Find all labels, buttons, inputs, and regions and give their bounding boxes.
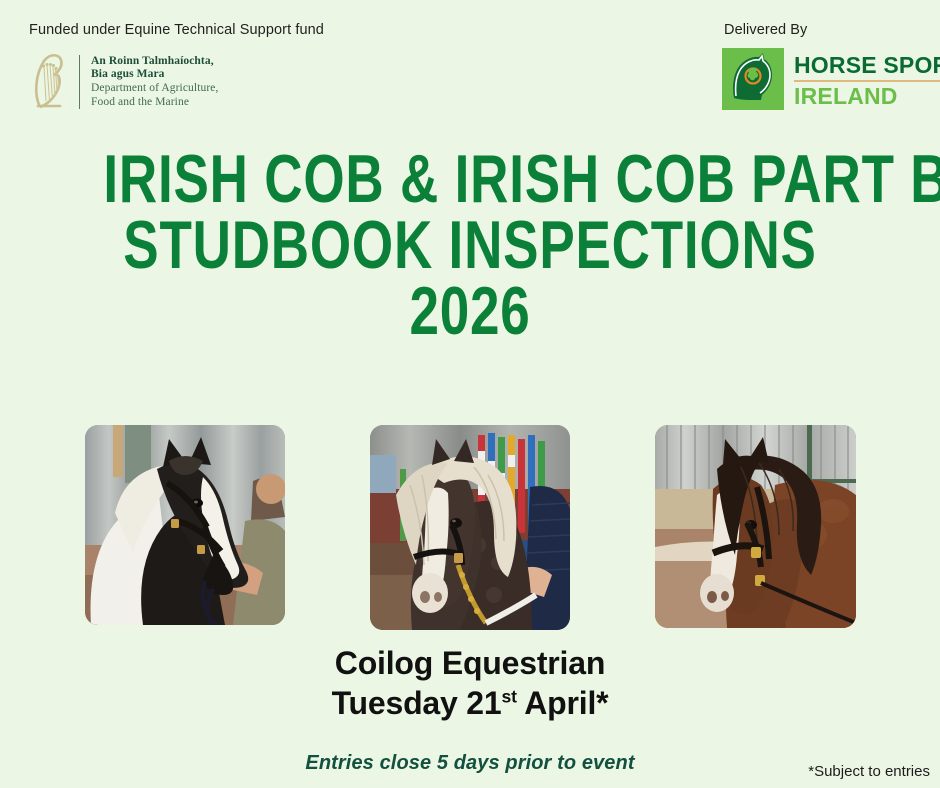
venue-date-ordinal: st	[502, 686, 517, 706]
department-irish-line-2: Bia agus Mara	[91, 68, 218, 82]
brand-wordmark: HORSE SPORT IRELAND	[794, 48, 940, 110]
headline-line-3: 2026	[103, 282, 836, 342]
brand-rule	[794, 80, 940, 82]
horse-head-icon	[722, 48, 784, 110]
funding-line: Funded under Equine Technical Support fu…	[29, 22, 429, 38]
department-logo: An Roinn Talmhaíochta, Bia agus Mara Dep…	[29, 51, 429, 113]
delivered-by-line: Delivered By	[724, 22, 932, 38]
piebald-cob-photo	[85, 425, 285, 625]
subject-to-entries-note: *Subject to entries	[808, 763, 930, 780]
brand-top-text: HORSE SPORT	[794, 54, 940, 77]
venue-name: Coilog Equestrian	[0, 645, 940, 683]
entries-close-note: Entries close 5 days prior to event	[0, 752, 940, 775]
bay-cob-photo	[655, 425, 856, 628]
headline-line-2: STUDBOOK INSPECTIONS	[103, 216, 836, 276]
headline-line-1: IRISH COB & IRISH COB PART BRED	[103, 150, 836, 210]
funder-block: Funded under Equine Technical Support fu…	[29, 22, 429, 113]
department-name: An Roinn Talmhaíochta, Bia agus Mara Dep…	[91, 55, 218, 109]
brand-bottom-text: IRELAND	[794, 85, 940, 108]
photo-gallery	[0, 425, 940, 630]
venue-date-month: April*	[517, 685, 609, 721]
venue-block: Coilog Equestrian Tuesday 21st April*	[0, 645, 940, 723]
venue-date-day: Tuesday 21	[332, 685, 502, 721]
logo-divider	[79, 55, 80, 109]
department-english-line-2: Food and the Marine	[91, 96, 218, 110]
poster-canvas: Funded under Equine Technical Support fu…	[0, 0, 940, 788]
department-irish-line-1: An Roinn Talmhaíochta,	[91, 55, 218, 69]
venue-date: Tuesday 21st April*	[0, 685, 940, 723]
horse-sport-ireland-logo: HORSE SPORT IRELAND	[722, 48, 932, 110]
irish-harp-icon	[29, 51, 71, 113]
page-title: IRISH COB & IRISH COB PART BRED STUDBOOK…	[0, 150, 940, 341]
department-english-line-1: Department of Agriculture,	[91, 82, 218, 96]
silver-dapple-cob-photo	[370, 425, 570, 630]
delivered-by-block: Delivered By HORSE SPORT IRELAND	[722, 22, 932, 110]
